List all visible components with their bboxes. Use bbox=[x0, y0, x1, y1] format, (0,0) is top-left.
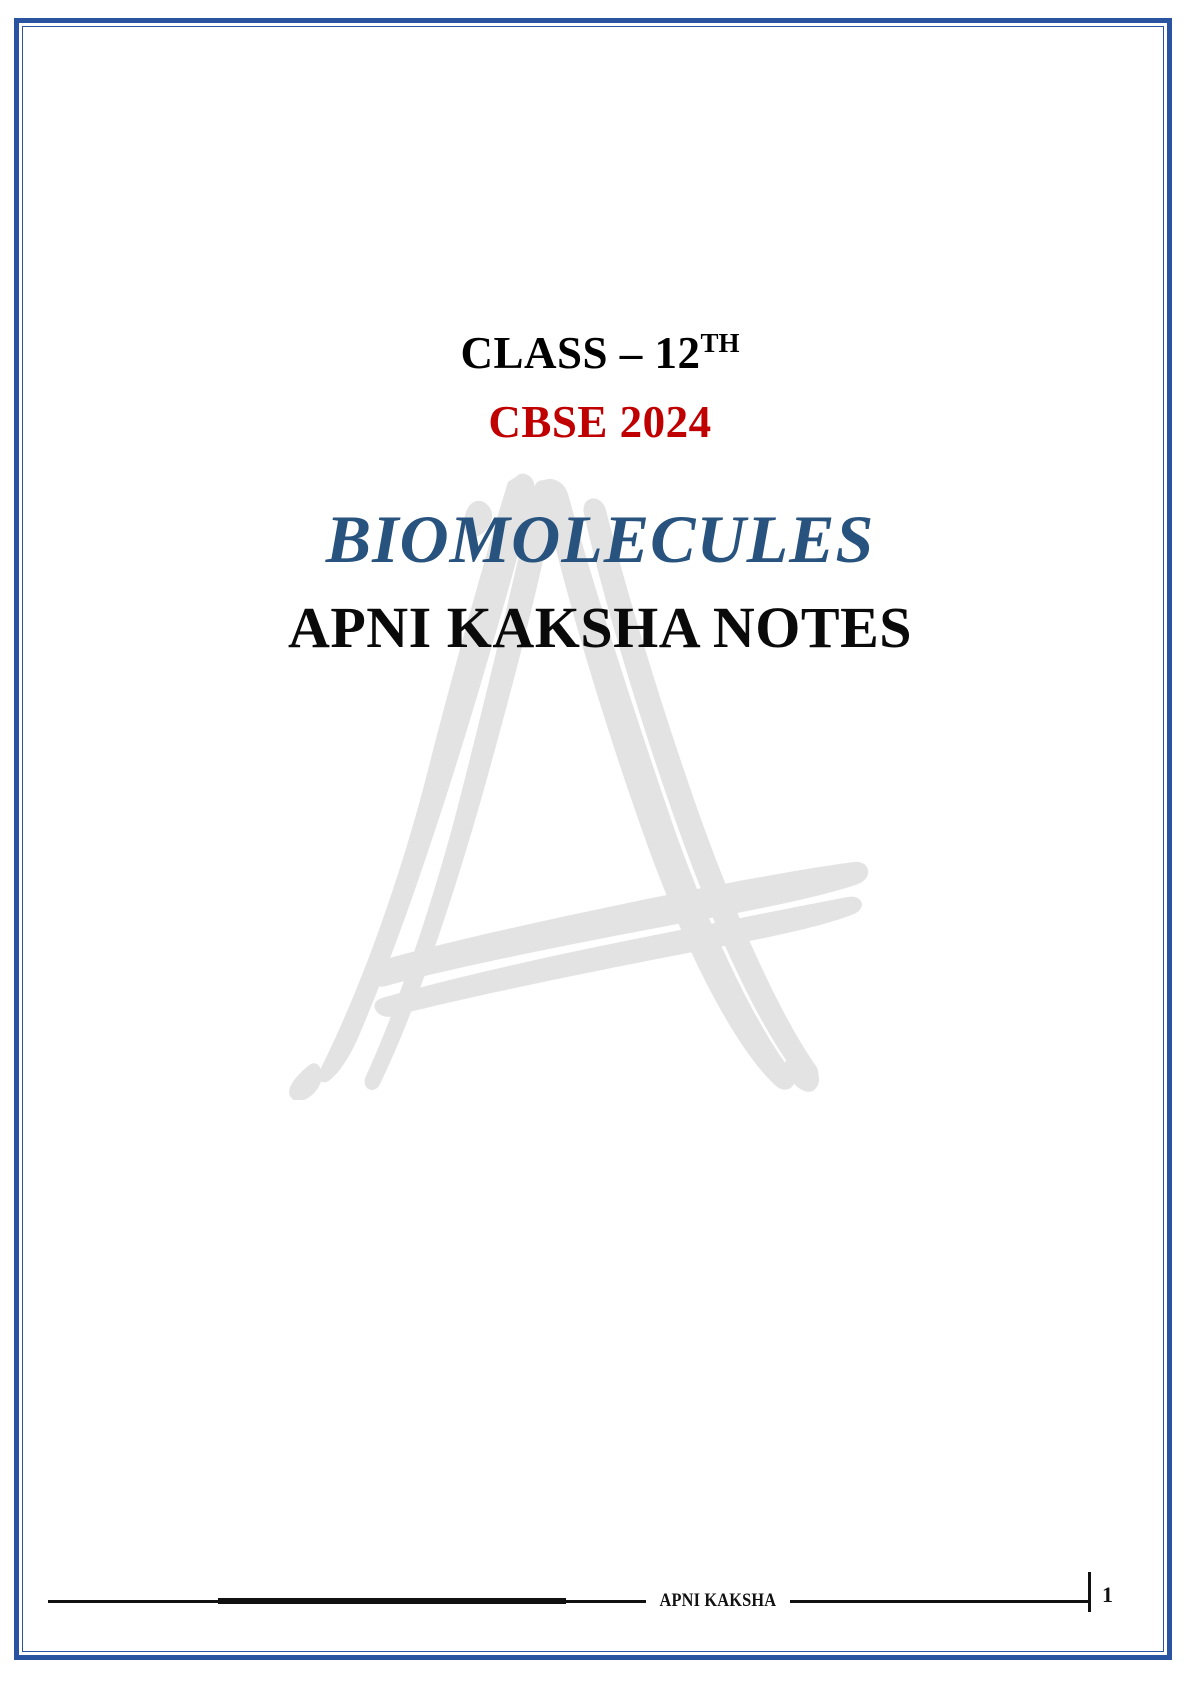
page-number: 1 bbox=[1102, 1582, 1142, 1608]
footer-page-number-divider bbox=[1088, 1572, 1091, 1612]
cover-title-block: CLASS – 12TH CBSE 2024 BIOMOLECULES APNI… bbox=[0, 330, 1200, 657]
footer-rule: APNI KAKSHA bbox=[48, 1590, 1088, 1612]
subject-title: BIOMOLECULES bbox=[0, 505, 1200, 574]
class-line: CLASS – 12TH bbox=[0, 330, 1200, 377]
exam-line: CBSE 2024 bbox=[0, 399, 1200, 446]
class-line-superscript: TH bbox=[701, 328, 740, 358]
class-line-text: CLASS – 12 bbox=[460, 328, 700, 378]
page-content: CLASS – 12TH CBSE 2024 BIOMOLECULES APNI… bbox=[0, 0, 1200, 1696]
footer-brand-label: APNI KAKSHA bbox=[656, 1590, 780, 1612]
footer-rule-segment-right bbox=[790, 1600, 1088, 1603]
page-footer: APNI KAKSHA 1 bbox=[48, 1572, 1152, 1632]
notes-line: APNI KAKSHA NOTES bbox=[0, 598, 1200, 657]
footer-rule-segment-left-thin-2 bbox=[566, 1600, 646, 1603]
footer-rule-segment-left-thick bbox=[218, 1598, 566, 1604]
footer-rule-segment-left-thin bbox=[48, 1600, 218, 1603]
